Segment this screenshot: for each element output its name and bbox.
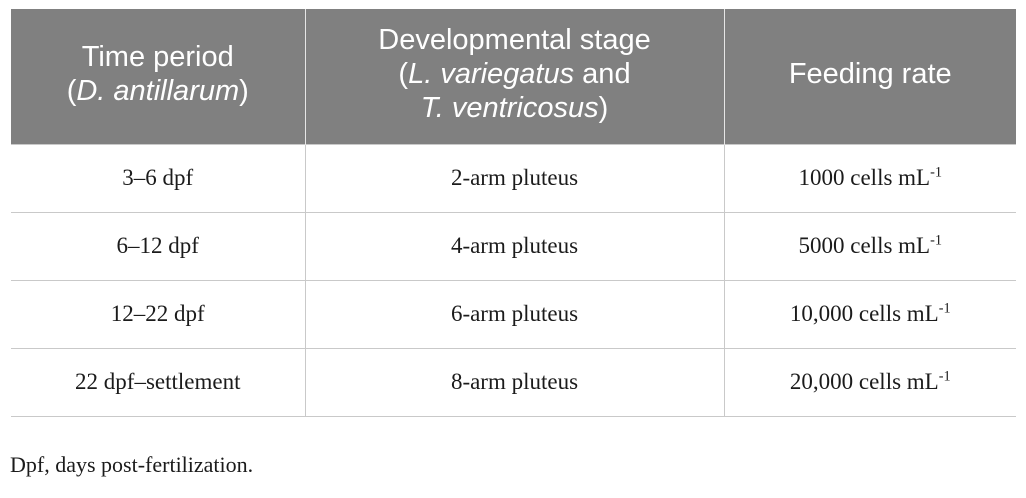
column-header-time-period: Time period (D. antillarum) (11, 9, 305, 144)
table-row: 22 dpf–settlement 8-arm pluteus 20,000 c… (11, 348, 1016, 416)
column-header-feeding-rate-line1: Feeding rate (789, 58, 952, 90)
table-header-row: Time period (D. antillarum) Developmenta… (11, 9, 1016, 144)
column-header-developmental-stage-line2-prefix: ( (398, 58, 408, 90)
cell-time-period: 22 dpf–settlement (11, 348, 305, 416)
cell-feeding-rate: 10,000 cells mL-1 (724, 280, 1016, 348)
column-header-time-period-line2-prefix: ( (67, 75, 77, 107)
feeding-regime-table: Time period (D. antillarum) Developmenta… (11, 9, 1016, 417)
feeding-regime-table-container: Time period (D. antillarum) Developmenta… (11, 9, 1016, 417)
table-row: 6–12 dpf 4-arm pluteus 5000 cells mL-1 (11, 212, 1016, 280)
cell-developmental-stage: 4-arm pluteus (305, 212, 724, 280)
cell-feeding-rate: 1000 cells mL-1 (724, 144, 1016, 212)
table-row: 3–6 dpf 2-arm pluteus 1000 cells mL-1 (11, 144, 1016, 212)
column-header-time-period-line1: Time period (82, 41, 234, 73)
cell-feeding-rate: 5000 cells mL-1 (724, 212, 1016, 280)
cell-time-period: 6–12 dpf (11, 212, 305, 280)
cell-developmental-stage: 2-arm pluteus (305, 144, 724, 212)
column-header-developmental-stage-species-1: L. variegatus (408, 58, 574, 90)
cell-feeding-rate-exponent: -1 (930, 232, 942, 248)
column-header-developmental-stage-line3-suffix: ) (599, 92, 609, 124)
table-row: 12–22 dpf 6-arm pluteus 10,000 cells mL-… (11, 280, 1016, 348)
table-header: Time period (D. antillarum) Developmenta… (11, 9, 1016, 144)
column-header-developmental-stage-species-2: T. ventricosus (421, 92, 599, 124)
cell-feeding-rate-exponent: -1 (930, 164, 942, 180)
column-header-time-period-species: D. antillarum (76, 75, 239, 107)
cell-feeding-rate: 20,000 cells mL-1 (724, 348, 1016, 416)
column-header-feeding-rate: Feeding rate (724, 9, 1016, 144)
cell-time-period: 3–6 dpf (11, 144, 305, 212)
cell-time-period: 12–22 dpf (11, 280, 305, 348)
cell-developmental-stage: 8-arm pluteus (305, 348, 724, 416)
cell-feeding-rate-exponent: -1 (939, 368, 951, 384)
column-header-developmental-stage-line2-suffix: and (574, 58, 630, 90)
table-footnote: Dpf, days post-fertilization. (10, 452, 253, 478)
cell-feeding-rate-exponent: -1 (939, 300, 951, 316)
column-header-time-period-line2-suffix: ) (239, 75, 249, 107)
cell-feeding-rate-value: 20,000 cells mL (790, 369, 939, 394)
cell-feeding-rate-value: 1000 cells mL (799, 165, 931, 190)
cell-feeding-rate-value: 5000 cells mL (799, 233, 931, 258)
column-header-developmental-stage-line1: Developmental stage (378, 24, 650, 56)
cell-feeding-rate-value: 10,000 cells mL (790, 301, 939, 326)
column-header-developmental-stage: Developmental stage (L. variegatus and T… (305, 9, 724, 144)
cell-developmental-stage: 6-arm pluteus (305, 280, 724, 348)
table-body: 3–6 dpf 2-arm pluteus 1000 cells mL-1 6–… (11, 144, 1016, 416)
